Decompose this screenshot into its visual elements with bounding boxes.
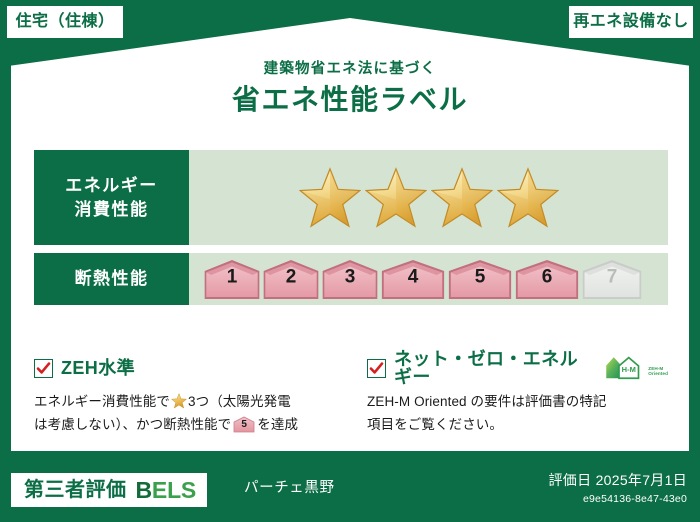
bels-certification-mark: 第三者評価 BELS xyxy=(11,473,207,507)
bels-wordmark-els: ELS xyxy=(152,477,196,503)
row-insulation-label: 断熱性能 xyxy=(34,253,189,305)
energy-performance-label: 住宅（住棟） 再エネ設備なし 建築物省エネ法に基づく 省エネ性能ラベル エネルギ… xyxy=(0,0,700,522)
insulation-level-chip: 6 xyxy=(514,257,580,301)
zeh-m-oriented-logo: H-M ZEH-M Oriented xyxy=(604,355,668,381)
zeh-m-caption-line1: ZEH-M xyxy=(648,366,663,371)
criteria-nze-text-line1: ZEH-M Oriented の要件は評価書の特記 xyxy=(367,394,607,409)
house-badge-inline: 5 xyxy=(233,416,255,433)
row-energy-label-line2: 消費性能 xyxy=(75,198,149,221)
star-icon xyxy=(497,167,559,229)
page-title-block: 建築物省エネ法に基づく 省エネ性能ラベル xyxy=(0,62,700,116)
zeh-m-logo-caption: ZEH-M Oriented xyxy=(648,366,668,381)
criteria-zeh-text-3: は考慮しない）、かつ断熱性能で xyxy=(34,417,231,432)
insulation-level-value: 6 xyxy=(514,268,580,287)
star-icon xyxy=(299,167,361,229)
insulation-level-chip: 4 xyxy=(380,257,446,301)
checkbox-zeh-standard[interactable] xyxy=(34,359,53,378)
criteria-nze-text-line2: 項目をご覧ください。 xyxy=(367,417,503,432)
insulation-level-value: 2 xyxy=(262,268,320,287)
insulation-level-value: 1 xyxy=(203,268,261,287)
star-icon xyxy=(365,167,427,229)
criteria-nze-header: ネット・ゼロ・エネルギー xyxy=(367,355,668,381)
zeh-m-house-icon: H-M xyxy=(604,355,646,381)
third-party-eval-label: 第三者評価 xyxy=(24,480,127,500)
energy-star-rating xyxy=(189,150,668,245)
checkbox-net-zero-energy[interactable] xyxy=(367,359,386,378)
row-energy-label: エネルギー 消費性能 xyxy=(34,150,189,245)
criteria-zeh-text-2: 3つ（太陽光発電 xyxy=(188,394,291,409)
badge-renewable-equipment: 再エネ設備なし xyxy=(569,6,693,38)
document-id: e9e54136-8e47-43e0 xyxy=(548,493,687,506)
insulation-level-chip: 3 xyxy=(321,257,379,301)
badge-house-type-label: 住宅（住棟） xyxy=(15,14,114,30)
criteria-zeh-header: ZEH水準 xyxy=(34,355,351,381)
star-icon xyxy=(431,167,493,229)
insulation-level-value: 5 xyxy=(447,268,513,287)
bels-wordmark-b: B xyxy=(136,477,152,503)
criteria-nze-body: ZEH-M Oriented の要件は評価書の特記 項目をご覧ください。 xyxy=(367,390,668,436)
evaluation-date-value: 2025年7月1日 xyxy=(596,472,687,488)
insulation-level-chip: 2 xyxy=(262,257,320,301)
criteria-zeh-text-1: エネルギー消費性能で xyxy=(34,394,170,409)
star-icon-inline xyxy=(171,393,187,409)
insulation-level-chip: 7 xyxy=(581,257,643,301)
row-energy-consumption: エネルギー 消費性能 xyxy=(34,150,668,245)
house-badge-inline-value: 5 xyxy=(233,420,255,430)
criteria-zeh-standard: ZEH水準 エネルギー消費性能で 3つ（太陽光発電 xyxy=(34,355,351,436)
insulation-level-value: 4 xyxy=(380,268,446,287)
criteria-zeh-body: エネルギー消費性能で 3つ（太陽光発電 は考慮しない）、かつ断熱性能で xyxy=(34,390,351,436)
title-subtitle: 建築物省エネ法に基づく xyxy=(0,62,700,78)
project-name: パーチェ黒野 xyxy=(244,481,335,496)
label-footer: 第三者評価 BELS パーチェ黒野 評価日 2025年7月1日 e9e54136… xyxy=(0,461,700,522)
footer-meta: 評価日 2025年7月1日 e9e54136-8e47-43e0 xyxy=(548,472,687,505)
row-insulation-performance: 断熱性能 1234567 xyxy=(34,253,668,305)
row-insulation-label-line1: 断熱性能 xyxy=(75,267,149,290)
insulation-level-chip: 1 xyxy=(203,257,261,301)
criteria-section: ZEH水準 エネルギー消費性能で 3つ（太陽光発電 xyxy=(34,355,668,436)
bels-wordmark: BELS xyxy=(136,479,197,502)
criteria-zeh-text-4: を達成 xyxy=(257,417,298,432)
page-title: 省エネ性能ラベル xyxy=(0,85,700,116)
criteria-net-zero-energy: ネット・ゼロ・エネルギー xyxy=(351,355,668,436)
row-energy-label-line1: エネルギー xyxy=(65,174,158,197)
svg-text:H-M: H-M xyxy=(622,365,636,374)
zeh-m-caption-line2: Oriented xyxy=(648,371,668,376)
insulation-level-chip: 5 xyxy=(447,257,513,301)
insulation-level-value: 7 xyxy=(581,268,643,287)
badge-house-type: 住宅（住棟） xyxy=(7,6,123,38)
insulation-level-scale: 1234567 xyxy=(189,253,668,305)
performance-rows: エネルギー 消費性能 断熱性能 1234567 xyxy=(34,150,668,305)
evaluation-date-label: 評価日 xyxy=(548,472,591,488)
criteria-nze-title: ネット・ゼロ・エネルギー xyxy=(394,350,591,386)
badge-renewable-label: 再エネ設備なし xyxy=(573,14,689,30)
evaluation-date: 評価日 2025年7月1日 xyxy=(548,472,687,489)
insulation-level-value: 3 xyxy=(321,268,379,287)
criteria-zeh-title: ZEH水準 xyxy=(61,359,135,377)
